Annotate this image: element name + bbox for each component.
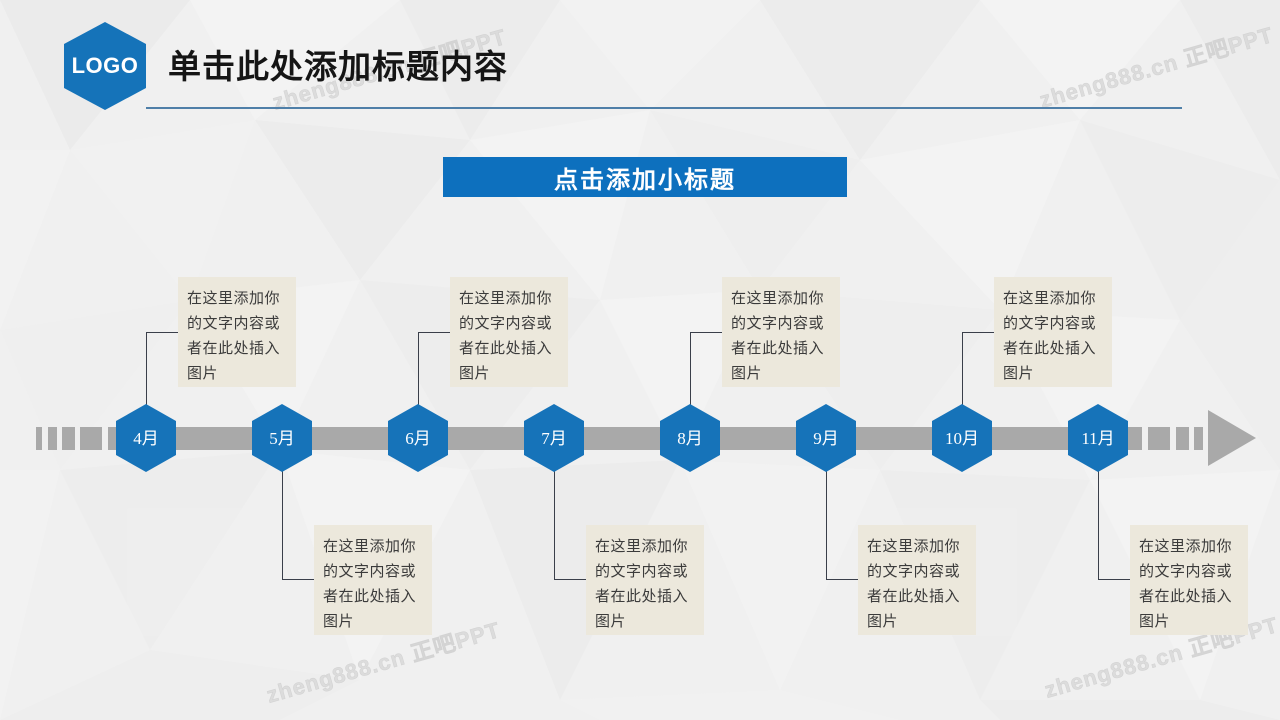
timeline-node-label: 8月 — [677, 430, 703, 447]
card-text: 在这里添加你的文字内容或者在此处插入图片 — [1003, 287, 1103, 387]
connector-line — [146, 332, 178, 410]
slide-canvas: zheng888.cn 正吧PPT zheng888.cn 正吧PPT zhen… — [0, 0, 1280, 720]
connector-line — [826, 470, 858, 580]
card-text: 在这里添加你的文字内容或者在此处插入图片 — [731, 287, 831, 387]
subtitle-banner: 点击添加小标题 — [443, 157, 847, 197]
logo-label: LOGO — [72, 53, 139, 79]
card-text: 在这里添加你的文字内容或者在此处插入图片 — [867, 535, 967, 635]
connector-line — [962, 332, 994, 410]
timeline-dash — [48, 427, 57, 450]
timeline-card: 在这里添加你的文字内容或者在此处插入图片 — [1130, 525, 1248, 635]
page-title: 单击此处添加标题内容 — [168, 40, 508, 88]
timeline-card: 在这里添加你的文字内容或者在此处插入图片 — [994, 277, 1112, 387]
subtitle-label: 点击添加小标题 — [554, 160, 736, 195]
timeline-node-label: 5月 — [269, 430, 295, 447]
timeline-node-label: 7月 — [541, 430, 567, 447]
connector-line — [418, 332, 450, 410]
timeline-dash — [1194, 427, 1203, 450]
timeline-card: 在这里添加你的文字内容或者在此处插入图片 — [722, 277, 840, 387]
timeline-dash — [62, 427, 75, 450]
card-text: 在这里添加你的文字内容或者在此处插入图片 — [187, 287, 287, 387]
timeline-node-label: 6月 — [405, 430, 431, 447]
timeline-node-label: 11月 — [1081, 430, 1114, 447]
connector-line — [554, 470, 586, 580]
timeline-dash — [1176, 427, 1189, 450]
card-text: 在这里添加你的文字内容或者在此处插入图片 — [595, 535, 695, 635]
timeline-dash — [36, 427, 42, 450]
timeline-node-label: 9月 — [813, 430, 839, 447]
timeline-arrowhead — [1208, 410, 1256, 466]
timeline-card: 在这里添加你的文字内容或者在此处插入图片 — [858, 525, 976, 635]
timeline-card: 在这里添加你的文字内容或者在此处插入图片 — [586, 525, 704, 635]
timeline-card: 在这里添加你的文字内容或者在此处插入图片 — [450, 277, 568, 387]
timeline-node-label: 10月 — [945, 430, 979, 447]
card-text: 在这里添加你的文字内容或者在此处插入图片 — [323, 535, 423, 635]
timeline-dash — [80, 427, 102, 450]
connector-line — [1098, 470, 1130, 580]
timeline-card: 在这里添加你的文字内容或者在此处插入图片 — [178, 277, 296, 387]
timeline-dash — [1148, 427, 1170, 450]
connector-line — [282, 470, 314, 580]
card-text: 在这里添加你的文字内容或者在此处插入图片 — [1139, 535, 1239, 635]
timeline-node-label: 4月 — [133, 430, 159, 447]
title-divider — [146, 107, 1182, 109]
timeline-card: 在这里添加你的文字内容或者在此处插入图片 — [314, 525, 432, 635]
card-text: 在这里添加你的文字内容或者在此处插入图片 — [459, 287, 559, 387]
connector-line — [690, 332, 722, 410]
